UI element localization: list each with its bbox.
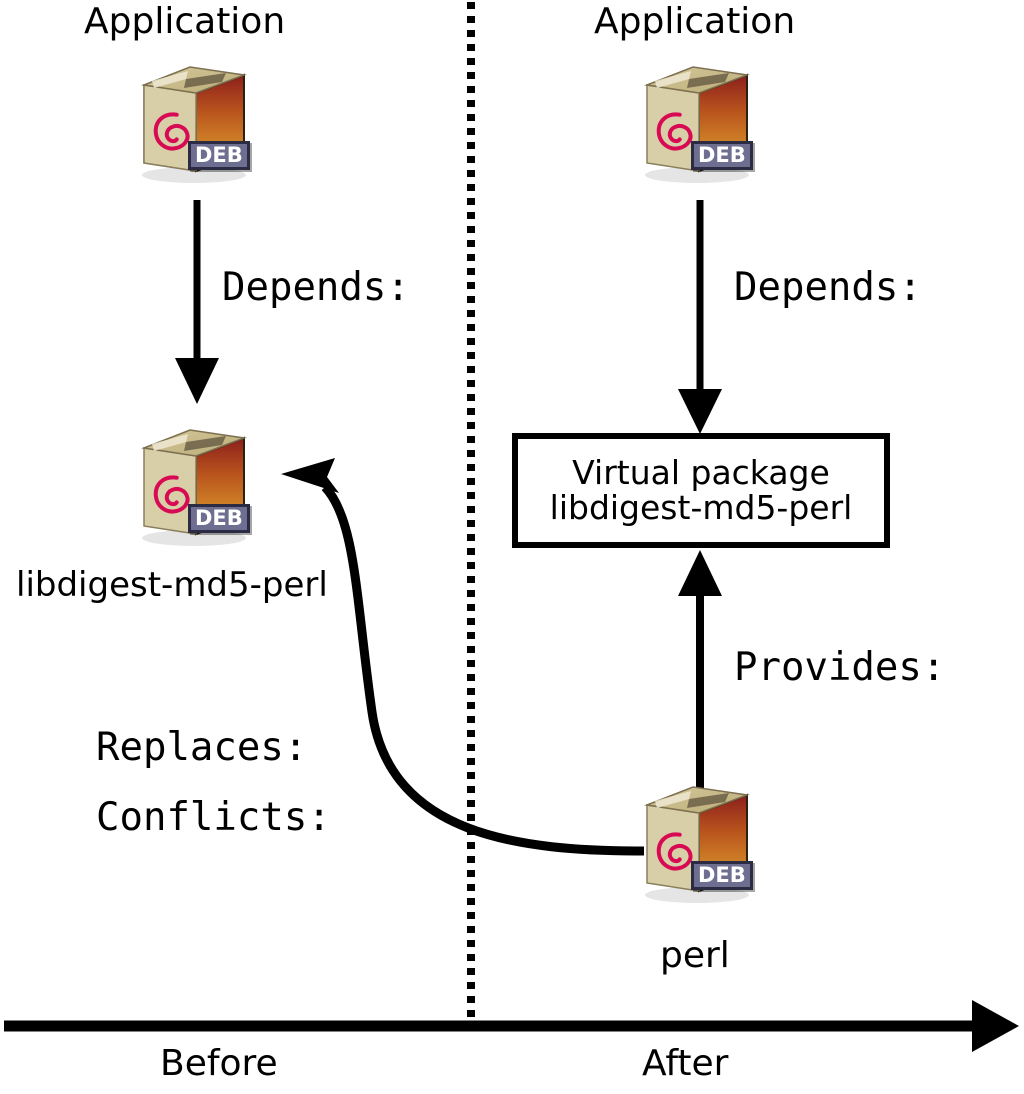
depends-label-before: Depends: — [222, 268, 410, 307]
timeline-label-after: After — [642, 1046, 728, 1082]
deb-badge-text: DEB — [698, 863, 746, 887]
diagram-canvas: DEB — [0, 0, 1024, 1094]
virtual-package-box: Virtual package libdigest-md5-perl — [512, 433, 890, 548]
deb-badge-text: DEB — [195, 143, 243, 167]
deb-badge-text: DEB — [698, 143, 746, 167]
app-label-before: Application — [84, 4, 285, 40]
conflicts-label: Conflicts: — [96, 798, 331, 837]
deb-badge: DEB — [691, 861, 753, 890]
deb-badge: DEB — [188, 504, 250, 533]
package-icon-app-after: DEB — [625, 55, 775, 185]
package-icon-perl: DEB — [625, 775, 775, 905]
app-label-after: Application — [594, 4, 795, 40]
virtual-package-line2: libdigest-md5-perl — [550, 491, 853, 525]
provides-label: Provides: — [734, 648, 945, 687]
virtual-package-line1: Virtual package — [572, 456, 830, 490]
deb-badge-text: DEB — [195, 506, 243, 530]
package-icon-libdigest-md5-perl: DEB — [122, 418, 272, 548]
depends-label-after: Depends: — [734, 268, 922, 307]
arrow-provides — [678, 550, 722, 790]
deb-badge: DEB — [691, 141, 753, 170]
libdigest-md5-perl-label: libdigest-md5-perl — [16, 568, 328, 602]
timeline-axis — [4, 1000, 1019, 1052]
replaces-label: Replaces: — [96, 728, 307, 767]
package-icon-app-before: DEB — [122, 55, 272, 185]
perl-label: perl — [660, 938, 730, 974]
timeline-label-before: Before — [160, 1046, 278, 1082]
arrow-right-depends — [678, 200, 722, 434]
arrow-left-depends — [175, 200, 219, 404]
deb-badge: DEB — [188, 141, 250, 170]
